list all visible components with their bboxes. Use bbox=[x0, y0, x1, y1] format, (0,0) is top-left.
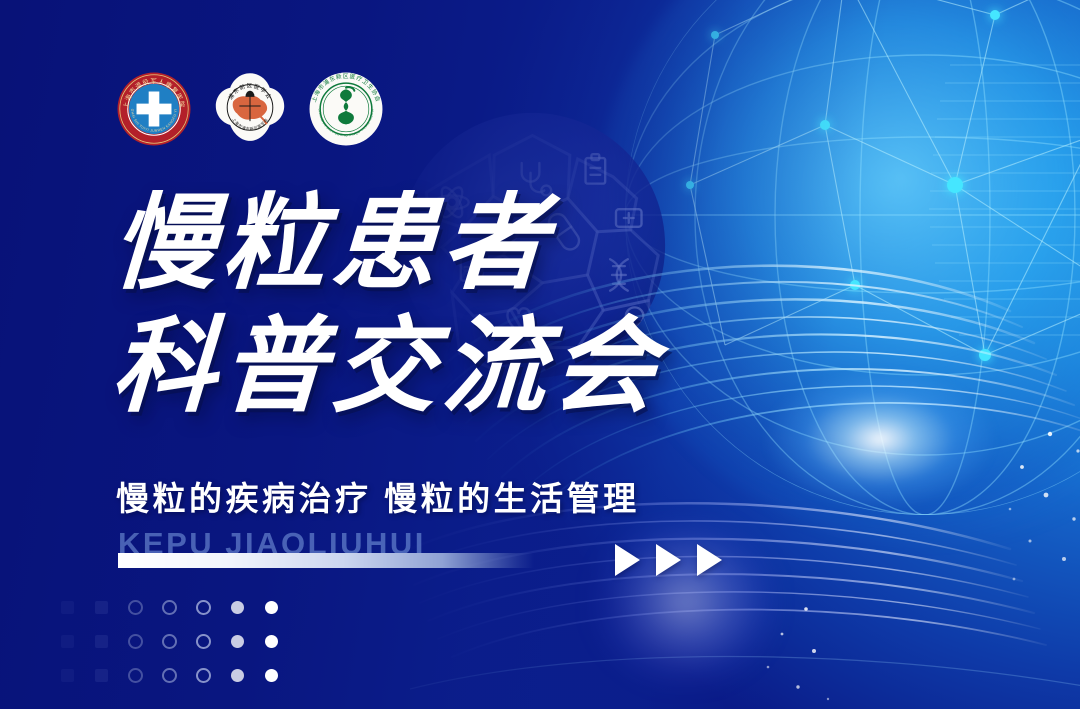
pudong-medical-association-emblem: 上海市浦东新区医疗卫生协会 SHANGHAI SHI PUDONG XINQU … bbox=[308, 71, 384, 147]
grid-dot bbox=[61, 669, 74, 682]
grid-dot bbox=[231, 669, 244, 682]
grid-dot bbox=[162, 668, 177, 683]
grid-dot bbox=[162, 634, 177, 649]
gradient-underline-bar bbox=[118, 553, 534, 568]
grid-dot bbox=[128, 600, 143, 615]
shanghai-blood-hospital-emblem: 上海市退役军人康复医院 SHANGHAI SHI TUIYI JUNREN KA… bbox=[116, 71, 192, 147]
grid-dot bbox=[231, 635, 244, 648]
grid-dot bbox=[162, 600, 177, 615]
play-arrow-icon bbox=[656, 544, 681, 576]
grid-dot bbox=[265, 669, 278, 682]
poster-canvas: 上海市退役军人康复医院 SHANGHAI SHI TUIYI JUNREN KA… bbox=[0, 0, 1080, 709]
grid-dot bbox=[196, 600, 211, 615]
grid-dot bbox=[196, 634, 211, 649]
headline-line-2: 科普交流会 bbox=[109, 309, 665, 428]
grid-dot bbox=[61, 601, 74, 614]
fading-dot-grid bbox=[55, 595, 283, 687]
headline-line-1: 慢粒患者 bbox=[109, 186, 665, 305]
logo-row: 上海市退役军人康复医院 SHANGHAI SHI TUIYI JUNREN KA… bbox=[116, 71, 384, 147]
grid-dot bbox=[265, 635, 278, 648]
triple-play-arrow bbox=[615, 544, 722, 576]
poster-subtitle: 慢粒的疾病治疗 慢粒的生活管理 bbox=[116, 472, 640, 520]
grid-dot bbox=[95, 601, 108, 614]
pharmacist-association-emblem: 浦东新区医学会 上海市浦东新区医学会 bbox=[212, 71, 288, 147]
grid-dot bbox=[95, 635, 108, 648]
grid-dot bbox=[265, 601, 278, 614]
grid-dot bbox=[95, 669, 108, 682]
grid-dot bbox=[231, 601, 244, 614]
grid-dot bbox=[128, 668, 143, 683]
poster-headline: 慢粒患者 科普交流会 bbox=[112, 186, 662, 427]
grid-dot bbox=[196, 668, 211, 683]
grid-dot bbox=[128, 634, 143, 649]
play-arrow-icon bbox=[697, 544, 722, 576]
play-arrow-icon bbox=[615, 544, 640, 576]
grid-dot bbox=[61, 635, 74, 648]
